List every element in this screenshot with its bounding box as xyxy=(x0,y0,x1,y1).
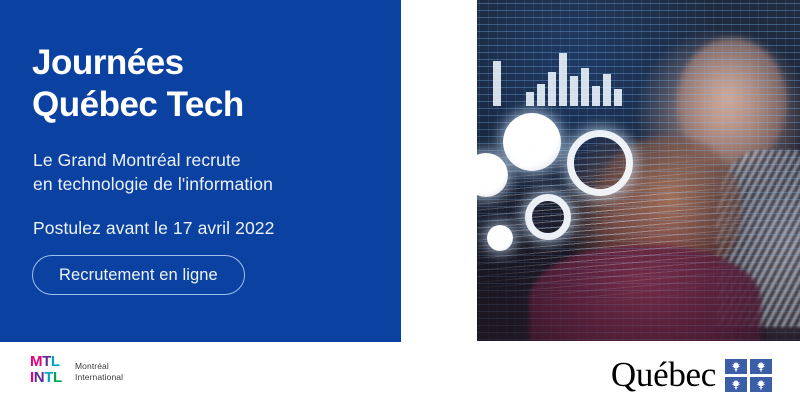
hero-photo xyxy=(477,0,800,341)
quebec-wordmark: Québec xyxy=(611,356,716,394)
subtitle-text: Le Grand Montréal recrute en technologie… xyxy=(33,148,273,196)
banner-root: Journées Québec Tech Le Grand Montréal r… xyxy=(0,0,800,419)
flag-quadrant xyxy=(725,359,747,374)
deadline-text: Postulez avant le 17 avril 2022 xyxy=(33,218,274,239)
flag-quadrant xyxy=(750,359,772,374)
montreal-international-name: Montréal International xyxy=(75,361,123,382)
footer-bar: MTL INTL Montréal International Québec xyxy=(0,342,800,419)
mtl-mark-line-1: MTL xyxy=(30,355,68,369)
quebec-government-logo[interactable]: Québec xyxy=(611,356,772,394)
recruitment-cta-button[interactable]: Recrutement en ligne xyxy=(32,255,245,295)
mtl-intl-mark-icon: MTL INTL xyxy=(30,355,68,388)
blue-content-panel: Journées Québec Tech Le Grand Montréal r… xyxy=(0,0,401,342)
flag-quadrant xyxy=(750,377,772,392)
quebec-flag-icon xyxy=(725,359,772,392)
flag-quadrant xyxy=(725,377,747,392)
bar-chart-overlay-icon xyxy=(493,51,622,106)
montreal-international-logo[interactable]: MTL INTL Montréal International xyxy=(30,355,123,388)
page-title: Journées Québec Tech xyxy=(32,42,244,126)
light-streaks-overlay xyxy=(477,143,800,307)
mtl-mark-line-2: INTL xyxy=(30,371,68,385)
